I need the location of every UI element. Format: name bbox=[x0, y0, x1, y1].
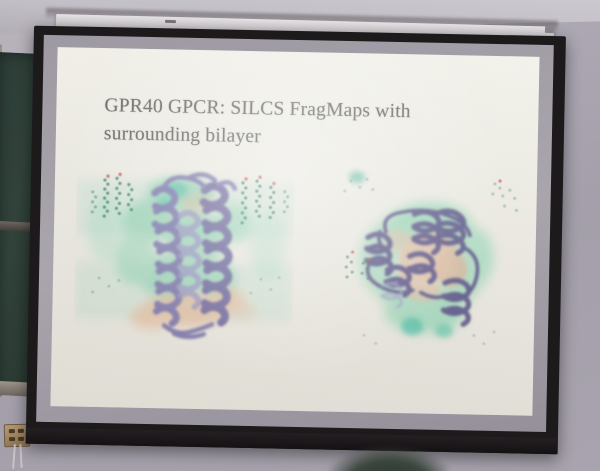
figure-top-view-gpcr-in-bilayer bbox=[323, 163, 527, 372]
roller-end-cap bbox=[545, 26, 554, 33]
hanging-wire bbox=[19, 444, 22, 468]
hanging-wire bbox=[12, 444, 16, 469]
outlet-slot bbox=[9, 429, 15, 433]
lecture-room-photo: GPR40 GPCR: SILCS FragMaps with surround… bbox=[0, 0, 600, 471]
roller-mount-screw bbox=[165, 20, 176, 23]
outlet-slot bbox=[18, 429, 24, 433]
slide-title: GPR40 GPCR: SILCS FragMaps with surround… bbox=[104, 92, 505, 155]
projected-slide: GPR40 GPCR: SILCS FragMaps with surround… bbox=[50, 47, 539, 416]
outlet-slot bbox=[9, 437, 15, 441]
outlet-slot bbox=[18, 437, 24, 441]
figure-side-view-gpcr-in-bilayer bbox=[73, 158, 295, 367]
projection-screen: GPR40 GPCR: SILCS FragMaps with surround… bbox=[26, 26, 566, 455]
slide-figures bbox=[51, 157, 537, 372]
